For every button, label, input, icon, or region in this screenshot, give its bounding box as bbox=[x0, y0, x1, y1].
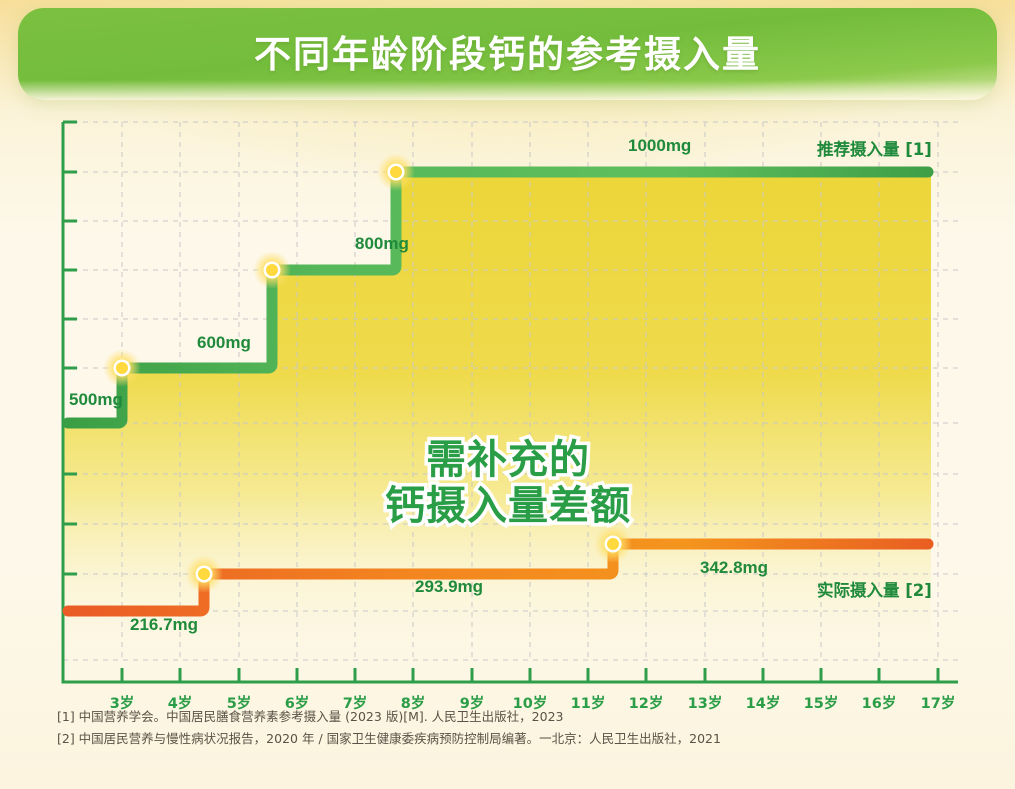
value-label-orange-342: 342.8mg bbox=[700, 558, 768, 578]
xtick-label-17: 17岁 bbox=[921, 692, 956, 713]
header-bar: 不同年龄阶段钙的参考摄入量 bbox=[18, 8, 997, 100]
legend-recommended-intake: 推荐摄入量 [1] bbox=[817, 136, 932, 160]
page-title: 不同年龄阶段钙的参考摄入量 bbox=[18, 24, 997, 78]
value-label-green-1000: 1000mg bbox=[628, 136, 691, 156]
xtick-label-14: 14岁 bbox=[746, 692, 781, 713]
value-label-orange-293: 293.9mg bbox=[415, 577, 483, 597]
chart-svg bbox=[0, 104, 1015, 694]
footnotes: [1] 中国营养学会。中国居民膳食营养素参考摄入量 (2023 版)[M]. 人… bbox=[57, 706, 721, 749]
legend-actual-intake: 实际摄入量 [2] bbox=[817, 577, 932, 601]
gap-callout-line-1: 需补充的 bbox=[298, 437, 718, 483]
footnote-1: [1] 中国营养学会。中国居民膳食营养素参考摄入量 (2023 版)[M]. 人… bbox=[57, 706, 721, 728]
chart-area: 500mg 600mg 800mg 1000mg 216.7mg 293.9mg… bbox=[0, 104, 1015, 694]
footnote-2: [2] 中国居民营养与慢性病状况报告，2020 年 / 国家卫生健康委疾病预防控… bbox=[57, 728, 721, 750]
value-label-green-800: 800mg bbox=[355, 234, 409, 254]
xtick-label-16: 16岁 bbox=[862, 692, 897, 713]
gap-callout: 需补充的 钙摄入量差额 bbox=[298, 437, 718, 530]
value-label-green-500: 500mg bbox=[69, 390, 123, 410]
infographic-page: 不同年龄阶段钙的参考摄入量 bbox=[0, 0, 1015, 789]
value-label-green-600: 600mg bbox=[197, 333, 251, 353]
value-label-orange-216: 216.7mg bbox=[130, 615, 198, 635]
xtick-label-15: 15岁 bbox=[804, 692, 839, 713]
gap-callout-line-2: 钙摄入量差额 bbox=[298, 483, 718, 529]
